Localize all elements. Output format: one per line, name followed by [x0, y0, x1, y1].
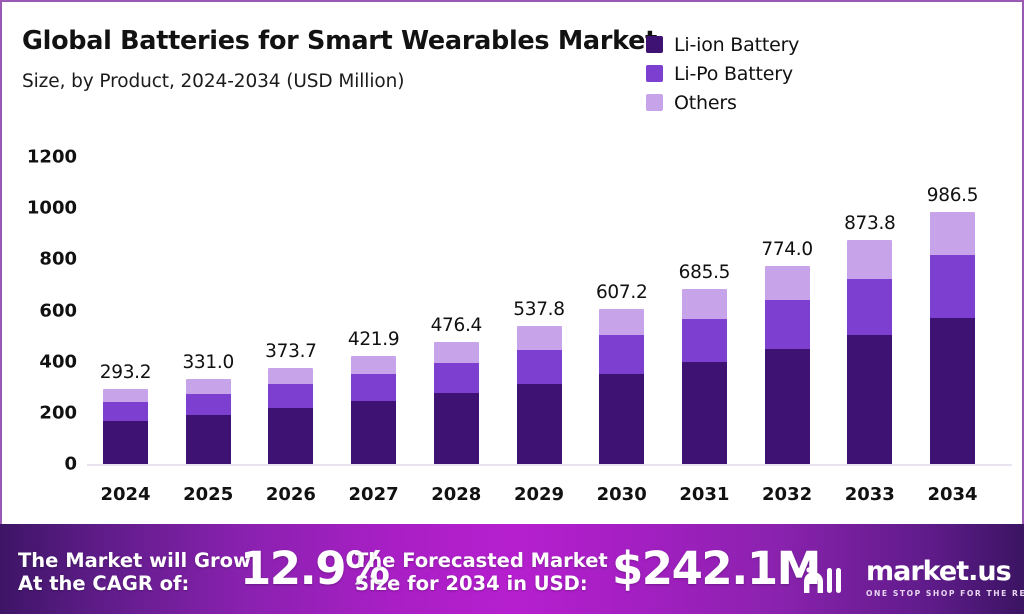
- bar-segment[interactable]: [765, 266, 810, 300]
- x-axis-tick-label: 2030: [582, 484, 662, 505]
- market-us-logo-icon: [800, 563, 858, 593]
- x-axis-tick-label: 2026: [251, 484, 331, 505]
- bar-segment[interactable]: [847, 279, 892, 335]
- bar-stack[interactable]: 607.2: [599, 309, 644, 464]
- market-us-logo[interactable]: market.us ONE STOP SHOP FOR THE REPORTS: [800, 558, 1024, 598]
- x-axis-tick-label: 2031: [664, 484, 744, 505]
- bar-value-label: 476.4: [431, 315, 482, 336]
- bar-stack[interactable]: 476.4: [434, 342, 479, 464]
- y-axis-tick-label: 1200: [7, 147, 77, 168]
- bar-segment[interactable]: [268, 368, 313, 384]
- x-axis-tick-label: 2034: [913, 484, 993, 505]
- bar-segment[interactable]: [103, 402, 148, 420]
- bar-segment[interactable]: [765, 300, 810, 350]
- cagr-label: The Market will Grow At the CAGR of:: [18, 549, 251, 595]
- bar-segment[interactable]: [682, 289, 727, 319]
- bar-value-label: 373.7: [265, 341, 316, 362]
- bar-segment[interactable]: [517, 326, 562, 349]
- x-axis-tick-label: 2024: [86, 484, 166, 505]
- bar-segment[interactable]: [682, 362, 727, 464]
- bar-stack[interactable]: 685.5: [682, 289, 727, 464]
- bar-segment[interactable]: [847, 240, 892, 278]
- bar-stack[interactable]: 774.0: [765, 266, 810, 464]
- x-axis-tick-label: 2027: [334, 484, 414, 505]
- bar-segment[interactable]: [351, 401, 396, 464]
- bar-segment[interactable]: [847, 335, 892, 464]
- x-axis-tick-label: 2025: [168, 484, 248, 505]
- bar-segment[interactable]: [930, 212, 975, 255]
- x-axis-baseline: [87, 464, 1012, 466]
- y-axis-tick-label: 1000: [7, 198, 77, 219]
- bar-value-label: 293.2: [100, 362, 151, 383]
- bar-segment[interactable]: [434, 363, 479, 393]
- bar-stack[interactable]: 873.8: [847, 240, 892, 464]
- y-axis-tick-label: 600: [7, 300, 77, 321]
- bar-segment[interactable]: [930, 255, 975, 318]
- bar-segment[interactable]: [682, 319, 727, 363]
- forecast-label-line1: The Forecasted Market: [355, 549, 608, 572]
- bar-segment[interactable]: [599, 335, 644, 374]
- bar-segment[interactable]: [268, 408, 313, 464]
- bar-value-label: 873.8: [844, 213, 895, 234]
- bar-value-label: 986.5: [927, 185, 978, 206]
- cagr-label-line2: At the CAGR of:: [18, 572, 251, 595]
- bar-stack[interactable]: 537.8: [517, 326, 562, 464]
- bar-stack[interactable]: 986.5: [930, 212, 975, 464]
- infographic-root: Global Batteries for Smart Wearables Mar…: [0, 0, 1024, 614]
- bar-segment[interactable]: [765, 349, 810, 464]
- x-axis-tick-label: 2028: [416, 484, 496, 505]
- summary-banner: The Market will Grow At the CAGR of: 12.…: [0, 524, 1024, 614]
- bar-stack[interactable]: 421.9: [351, 356, 396, 464]
- chart-plot-area: 020040060080010001200293.22024331.020253…: [2, 2, 1024, 522]
- bar-segment[interactable]: [268, 384, 313, 408]
- x-axis-tick-label: 2032: [747, 484, 827, 505]
- bar-value-label: 537.8: [513, 299, 564, 320]
- bar-segment[interactable]: [186, 394, 231, 415]
- x-axis-tick-label: 2029: [499, 484, 579, 505]
- x-axis-tick-label: 2033: [830, 484, 910, 505]
- bar-stack[interactable]: 373.7: [268, 368, 313, 464]
- bar-segment[interactable]: [186, 379, 231, 393]
- bar-value-label: 607.2: [596, 282, 647, 303]
- bar-value-label: 685.5: [679, 262, 730, 283]
- bar-segment[interactable]: [517, 384, 562, 464]
- y-axis-tick-label: 400: [7, 351, 77, 372]
- y-axis-tick-label: 200: [7, 402, 77, 423]
- logo-tagline: ONE STOP SHOP FOR THE REPORTS: [866, 589, 1024, 598]
- bar-stack[interactable]: 293.2: [103, 389, 148, 464]
- bar-segment[interactable]: [103, 421, 148, 464]
- bar-segment[interactable]: [517, 350, 562, 384]
- logo-text: market.us ONE STOP SHOP FOR THE REPORTS: [866, 558, 1024, 598]
- bar-value-label: 421.9: [348, 329, 399, 350]
- bar-stack[interactable]: 331.0: [186, 379, 231, 464]
- bar-segment[interactable]: [351, 356, 396, 374]
- bar-value-label: 331.0: [182, 352, 233, 373]
- forecast-value: $242.1M: [612, 542, 820, 595]
- y-axis-tick-label: 800: [7, 249, 77, 270]
- bar-segment[interactable]: [599, 374, 644, 464]
- cagr-label-line1: The Market will Grow: [18, 549, 251, 572]
- bar-segment[interactable]: [599, 309, 644, 336]
- bar-segment[interactable]: [930, 318, 975, 464]
- bar-value-label: 774.0: [761, 239, 812, 260]
- y-axis-tick-label: 0: [7, 454, 77, 475]
- bar-segment[interactable]: [186, 415, 231, 464]
- bar-segment[interactable]: [103, 389, 148, 402]
- forecast-label-line2: Size for 2034 in USD:: [355, 572, 608, 595]
- logo-name: market.us: [866, 558, 1024, 585]
- forecast-label: The Forecasted Market Size for 2034 in U…: [355, 549, 608, 595]
- bar-segment[interactable]: [434, 342, 479, 363]
- bar-segment[interactable]: [351, 374, 396, 401]
- bar-segment[interactable]: [434, 393, 479, 464]
